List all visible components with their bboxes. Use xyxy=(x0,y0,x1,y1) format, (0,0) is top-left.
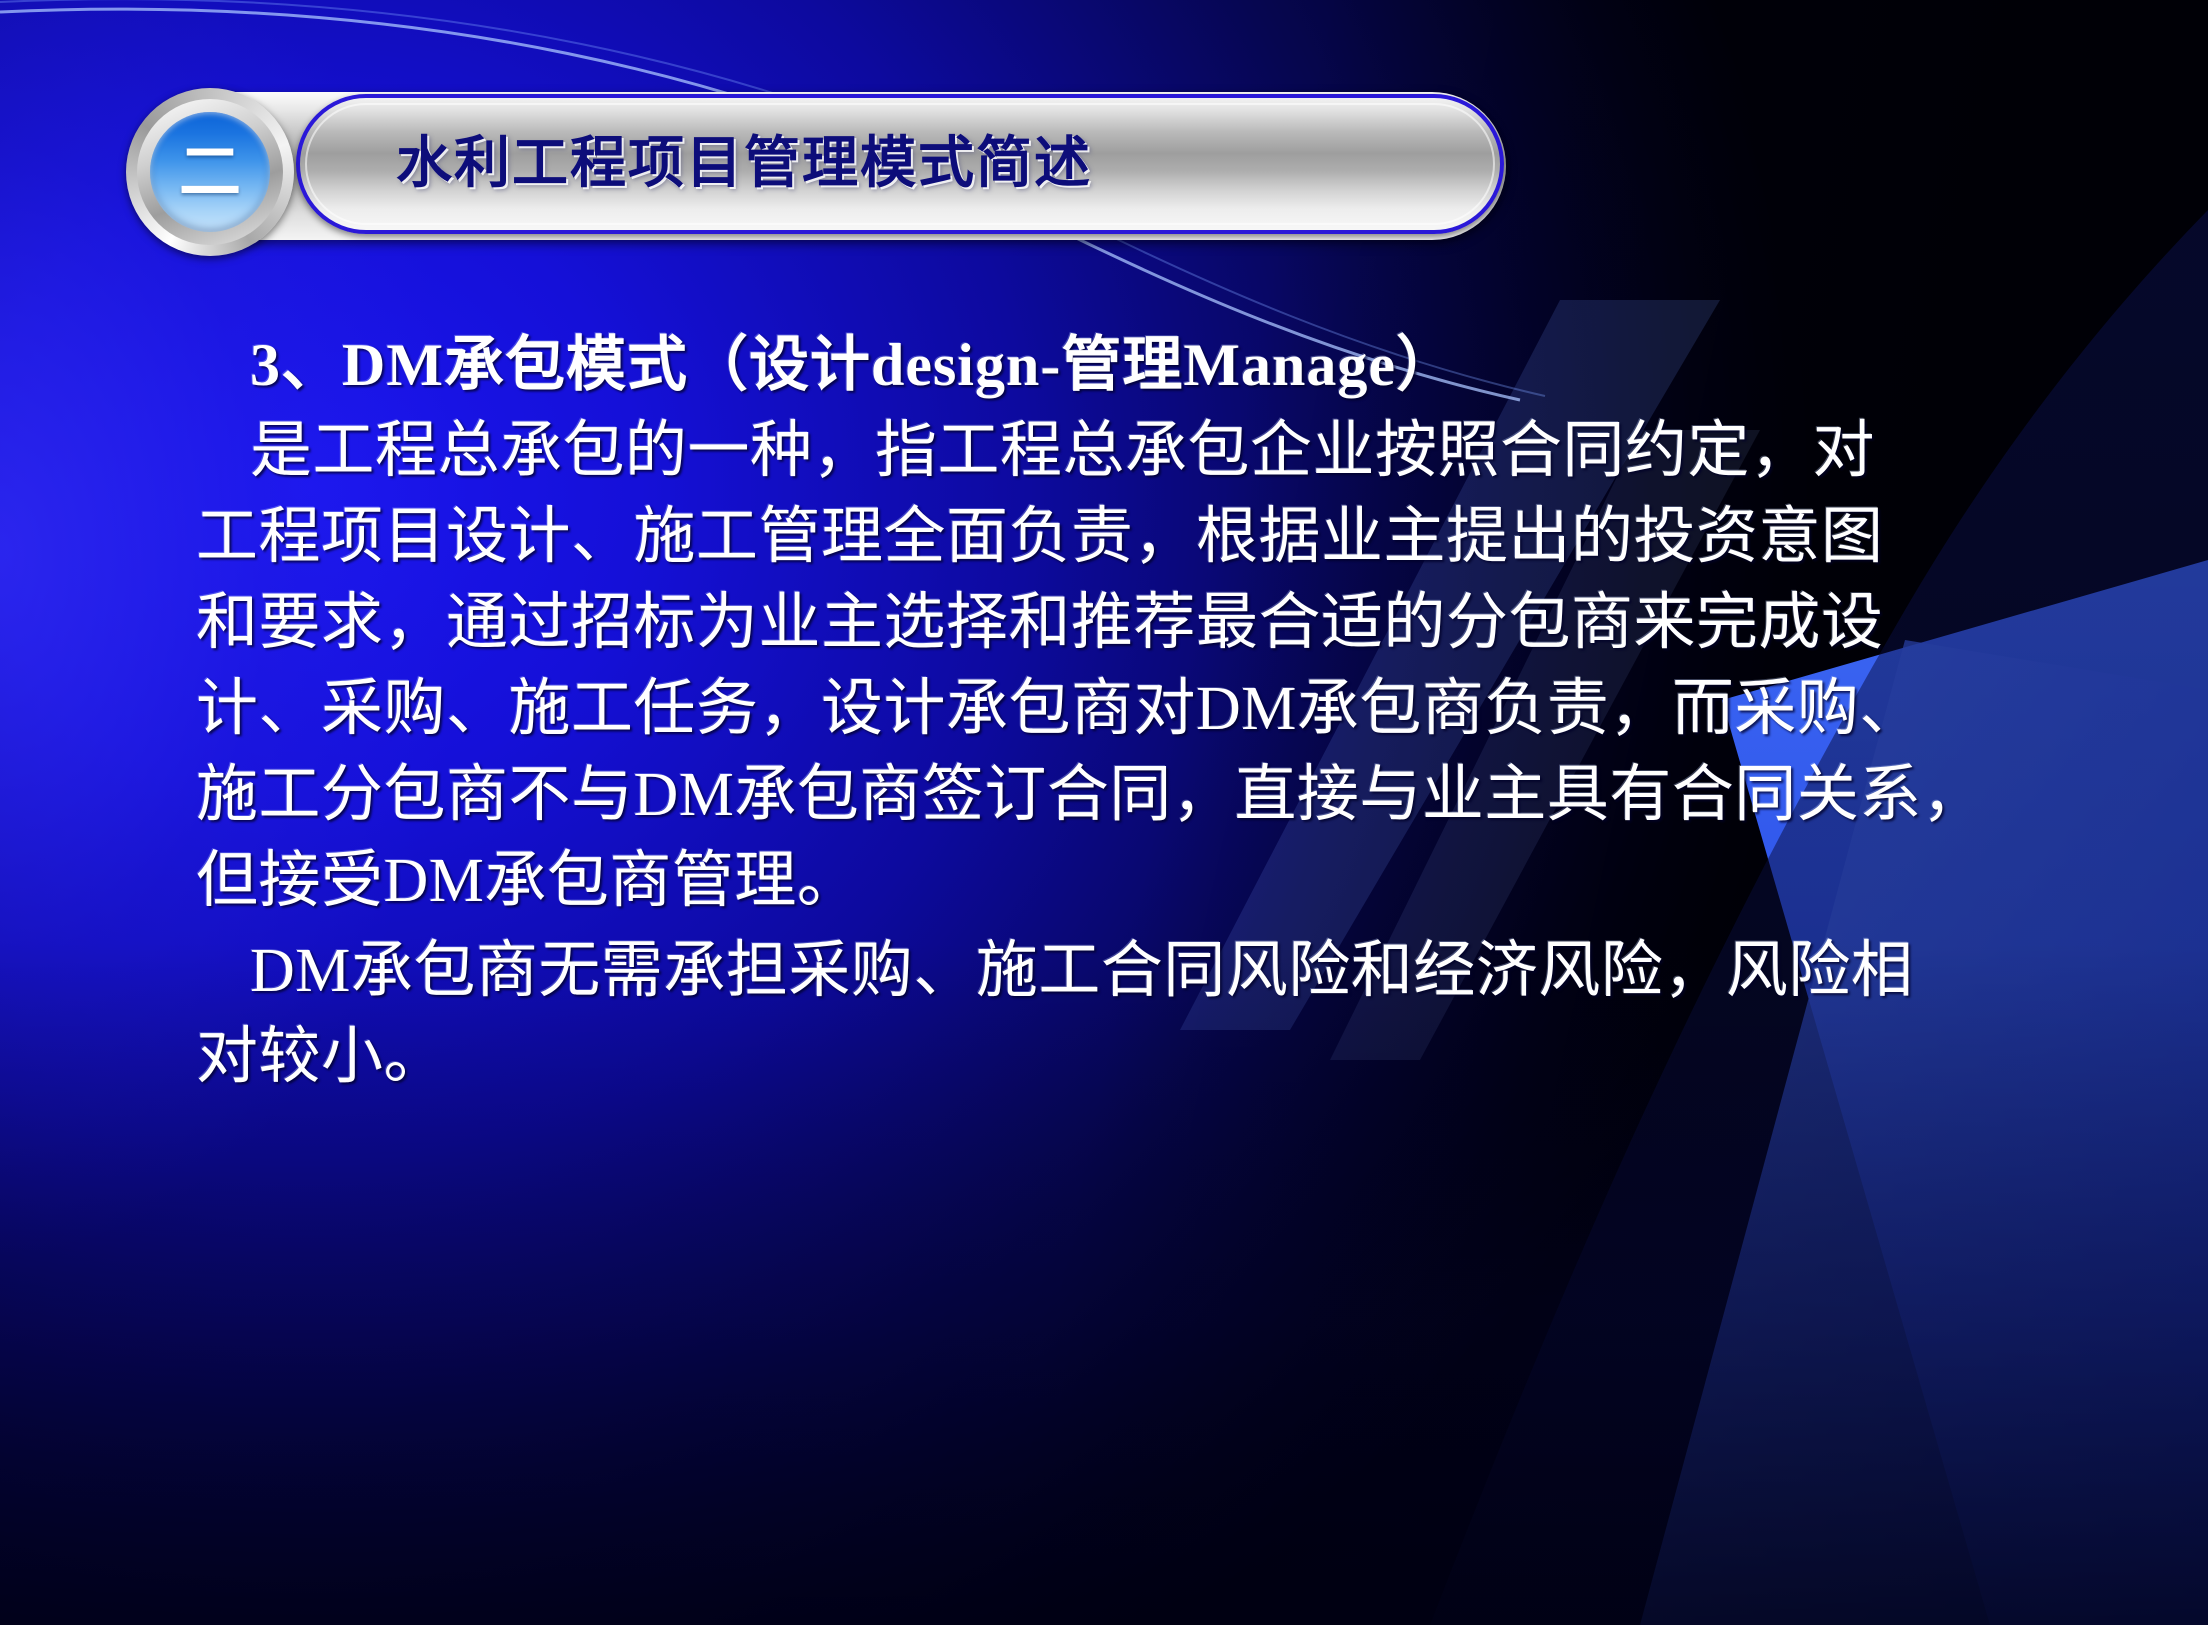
body-paragraph-line: 施工分包商不与DM承包商签订合同，直接与业主具有合同关系， xyxy=(196,752,2096,838)
slide-title-banner: 水利工程项目管理模式简述 二 xyxy=(136,92,1506,240)
section-badge-icon: 二 xyxy=(126,88,294,256)
slide-body: 3、DM承包模式（设计design-管理Manage） 是工程总承包的一种，指工… xyxy=(196,322,2096,1100)
page-title: 水利工程项目管理模式简述 xyxy=(396,92,1092,236)
body-heading: 3、DM承包模式（设计design-管理Manage） xyxy=(196,322,2096,408)
body-paragraph-line: 工程项目设计、施工管理全面负责，根据业主提出的投资意图 xyxy=(196,494,2096,580)
badge-disc: 二 xyxy=(150,112,270,232)
body-paragraph-line: 但接受DM承包商管理。 xyxy=(196,838,2096,924)
presentation-slide: 水利工程项目管理模式简述 二 3、DM承包模式（设计design-管理Manag… xyxy=(0,0,2208,1625)
body-paragraph-line: 对较小。 xyxy=(196,1014,2096,1100)
badge-number: 二 xyxy=(179,141,241,203)
body-paragraph-line: DM承包商无需承担采购、施工合同风险和经济风险，风险相 xyxy=(196,928,2096,1014)
body-paragraph-line: 是工程总承包的一种，指工程总承包企业按照合同约定，对 xyxy=(196,408,2096,494)
body-paragraph-line: 和要求，通过招标为业主选择和推荐最合适的分包商来完成设 xyxy=(196,580,2096,666)
body-paragraph-line: 计、采购、施工任务，设计承包商对DM承包商负责，而采购、 xyxy=(196,666,2096,752)
